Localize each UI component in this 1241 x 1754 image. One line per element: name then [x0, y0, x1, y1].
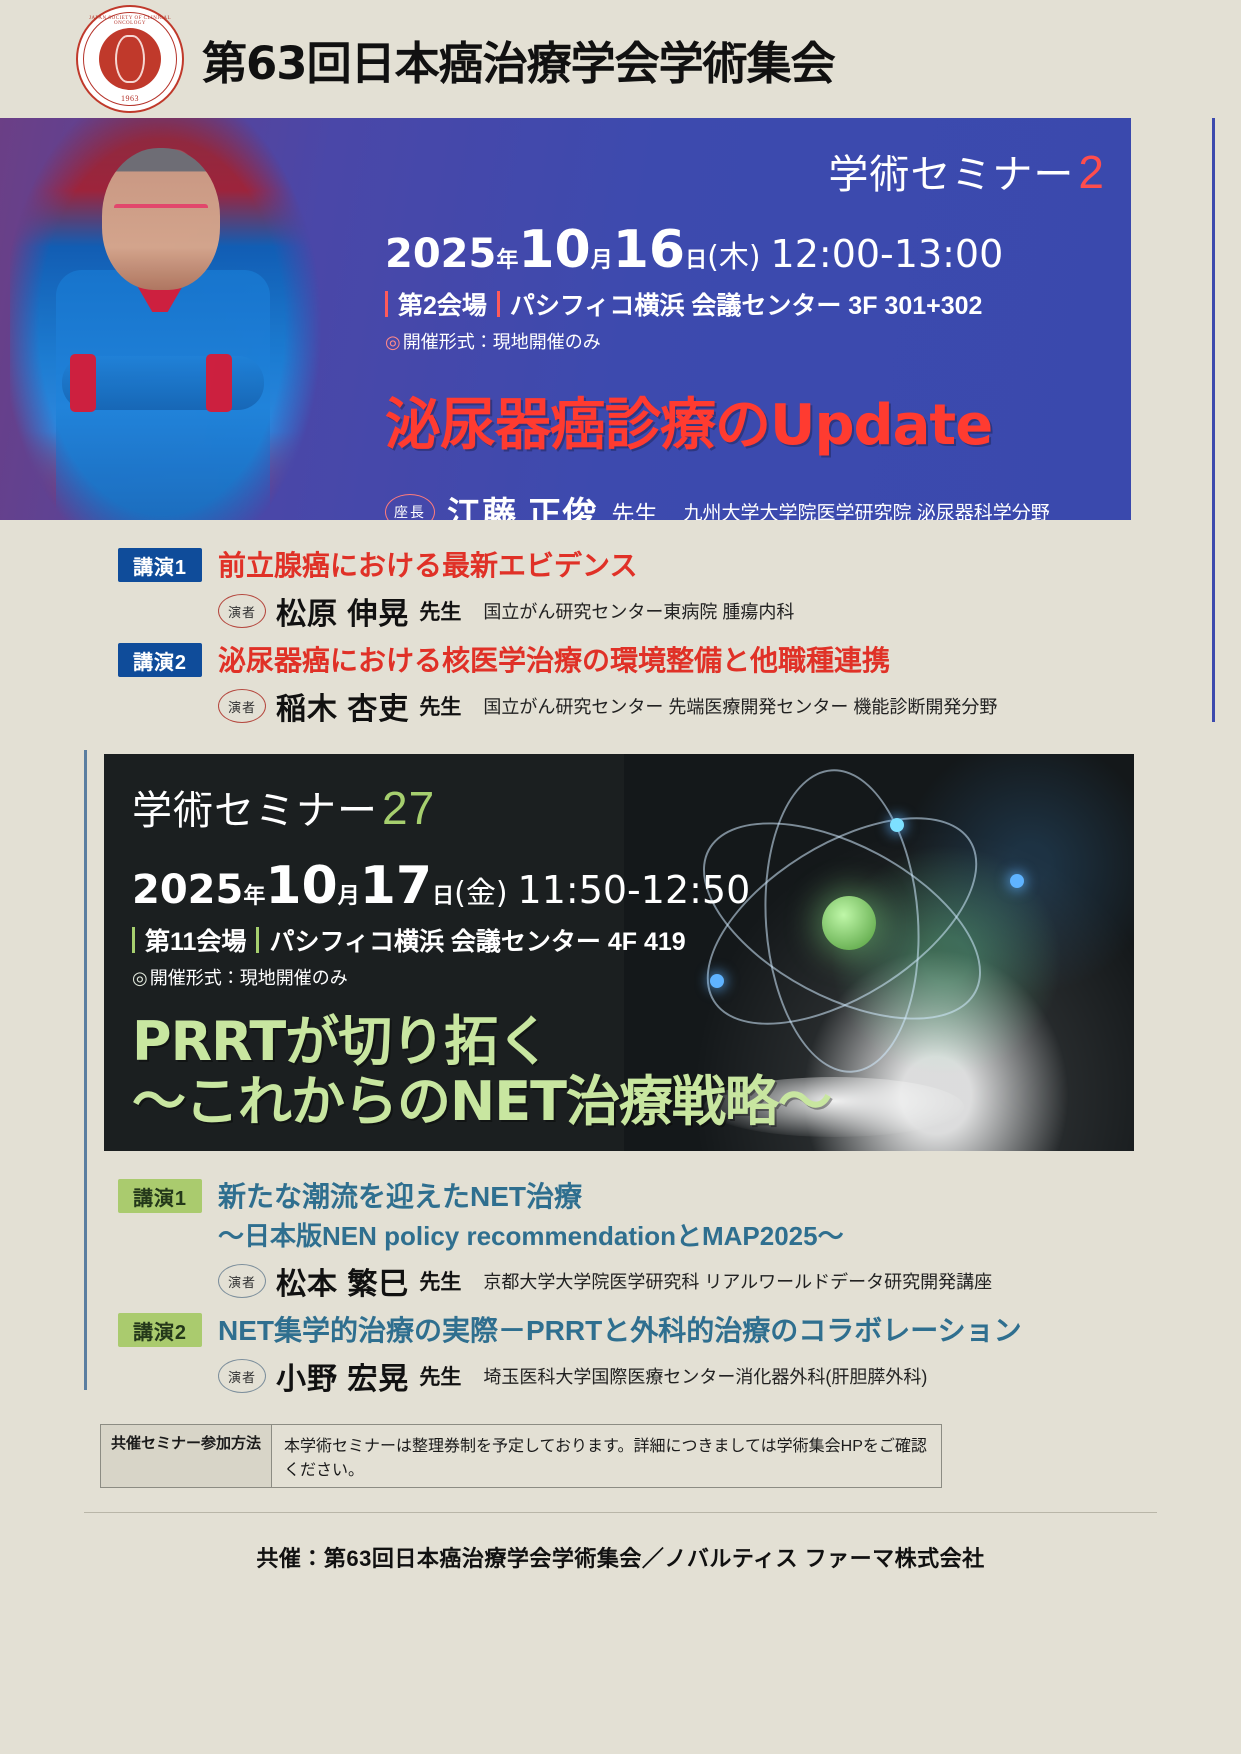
seminar27-place: パシフィコ横浜 会議センター 4F 419 [269, 922, 685, 958]
speaker-affiliation: 埼玉医科大学国際医療センター消化器外科(肝胆膵外科) [483, 1363, 927, 1389]
seminar27-hall: 第11会場 [145, 922, 246, 958]
seminar2-weekday: (木) [707, 240, 760, 275]
seminar2-label: 学術セミナー2 [385, 142, 1105, 200]
seminar2-day: 16 [613, 220, 685, 280]
speaker-row: 演者 小野 宏晃 先生 埼玉医科大学国際医療センター消化器外科(肝胆膵外科) [218, 1354, 1241, 1398]
participation-note-text: 本学術セミナーは整理券制を予定しております。詳細につきましては学術集会HPをご確… [272, 1425, 941, 1487]
speaker-row: 演者 松原 伸晃 先生 国立がん研究センター東病院 腫瘍内科 [218, 589, 1241, 633]
format-circle-icon: ◎ [385, 332, 401, 352]
seminar2-datetime: 2025年10月16日(木)12:00-13:00 [385, 220, 1105, 280]
participation-note: 共催セミナー参加方法 本学術セミナーは整理券制を予定しております。詳細につきまし… [100, 1424, 942, 1488]
seminar27-label-text: 学術セミナー [132, 789, 378, 833]
speaker-affiliation: 国立がん研究センター東病院 腫瘍内科 [483, 598, 794, 624]
seminar2-chair-affiliation: 九州大学大学院医学研究院 泌尿器科学分野 [683, 498, 1049, 520]
seminar27-month: 10 [265, 856, 337, 916]
seminar2-lectures: 講演1 前立腺癌における最新エビデンス 演者 松原 伸晃 先生 国立がん研究セン… [0, 520, 1241, 728]
right-vertical-rule [1212, 118, 1215, 722]
seminar2-format-text: 開催形式：現地開催のみ [403, 332, 601, 352]
chair-role-badge: 座長 [385, 494, 435, 521]
seminar2-hall: 第2会場 [398, 286, 487, 322]
speaker-name: 稲木 杏吏 [276, 684, 409, 728]
speaker-role-badge: 演者 [218, 1359, 266, 1393]
seminar27-month-unit: 月 [338, 884, 360, 909]
seminar27-banner: 学術セミナー27 2025年10月17日(金)11:50-12:50 第11会場… [104, 754, 1134, 1151]
seminar2-year-unit: 年 [496, 248, 518, 273]
format-circle-icon: ◎ [132, 968, 148, 988]
logo-text-bottom: 1963 [121, 94, 139, 103]
lecture-title: 新たな潮流を迎えたNET治療 [218, 1181, 582, 1212]
page-header: JAPAN SOCIETY OF CLINICAL ONCOLOGY 1963 … [0, 0, 1241, 118]
seminar27-year-unit: 年 [243, 884, 265, 909]
speaker-affiliation: 京都大学大学院医学研究科 リアルワールドデータ研究開発講座 [483, 1268, 992, 1294]
seminar27-lectures: 講演1 新たな潮流を迎えたNET治療 〜日本版NEN policy recomm… [0, 1151, 1241, 1398]
speaker-name: 松本 繁巳 [276, 1259, 409, 1303]
lecture-badge: 講演2 [118, 1313, 202, 1347]
seminar2-format: ◎開催形式：現地開催のみ [385, 328, 1105, 354]
lecture-title: 前立腺癌における最新エビデンス [218, 548, 637, 583]
lecture-title: NET集学的治療の実際－PRRTと外科的治療のコラボレーション [218, 1313, 1022, 1348]
speaker-honorific: 先生 [419, 691, 461, 721]
seminar2-month: 10 [518, 220, 590, 280]
seminar27-day-unit: 日 [432, 884, 454, 909]
speaker-name: 小野 宏晃 [276, 1354, 409, 1398]
seminar2-place: パシフィコ横浜 会議センター 3F 301+302 [510, 286, 983, 322]
seminar2-month-unit: 月 [591, 248, 613, 273]
seminar2-chair-name: 江藤 正俊 [447, 487, 597, 520]
seminar27-venue: 第11会場 パシフィコ横浜 会議センター 4F 419 [132, 922, 832, 958]
venue-divider-icon [132, 927, 135, 953]
lecture-row: 講演1 前立腺癌における最新エビデンス [118, 548, 1241, 583]
seminar2-day-unit: 日 [685, 248, 707, 273]
speaker-row: 演者 松本 繁巳 先生 京都大学大学院医学研究科 リアルワールドデータ研究開発講… [218, 1259, 1241, 1303]
speaker-honorific: 先生 [419, 1361, 461, 1391]
lecture-row: 講演1 新たな潮流を迎えたNET治療 〜日本版NEN policy recomm… [118, 1179, 1241, 1253]
speaker-role-badge: 演者 [218, 594, 266, 628]
conference-title: 第63回日本癌治療学会学術集会 [202, 27, 835, 92]
seminar27-year: 2025 [132, 867, 243, 913]
lecture-subtitle: 〜日本版NEN policy recommendationとMAP2025〜 [218, 1216, 844, 1253]
seminar2-venue: 第2会場 パシフィコ横浜 会議センター 3F 301+302 [385, 286, 1105, 322]
seminar2-banner: 学術セミナー2 2025年10月16日(木)12:00-13:00 第2会場 パ… [0, 118, 1131, 520]
footer-divider [84, 1512, 1157, 1513]
lecture-badge: 講演1 [118, 1179, 202, 1213]
seminar27-label: 学術セミナー27 [132, 778, 832, 836]
seminar2-year: 2025 [385, 231, 496, 277]
venue-divider-icon-2 [497, 291, 500, 317]
speaker-name: 松原 伸晃 [276, 589, 409, 633]
venue-divider-icon [385, 291, 388, 317]
seminar27-weekday: (金) [454, 876, 507, 911]
venue-divider-icon-2 [256, 927, 259, 953]
seminar27-day: 17 [360, 856, 432, 916]
chair-portrait-photo [10, 118, 340, 520]
speaker-role-badge: 演者 [218, 1264, 266, 1298]
lecture-row: 講演2 NET集学的治療の実際－PRRTと外科的治療のコラボレーション [118, 1313, 1241, 1348]
speaker-row: 演者 稲木 杏吏 先生 国立がん研究センター 先端医療開発センター 機能診断開発… [218, 684, 1241, 728]
participation-note-tag: 共催セミナー参加方法 [101, 1425, 272, 1487]
seminar2-time: 12:00-13:00 [771, 232, 1004, 276]
seminar27-title-line2: 〜これからのNET治療戦略〜 [132, 1072, 832, 1132]
seminar27-title-line1: PRRTが切り拓く [132, 1010, 550, 1073]
seminar27-format: ◎開催形式：現地開催のみ [132, 964, 832, 990]
left-vertical-rule [84, 750, 87, 1390]
lecture-title: 泌尿器癌における核医学治療の環境整備と他職種連携 [218, 643, 890, 678]
seminar2-chair-row: 座長 江藤 正俊 先生 九州大学大学院医学研究院 泌尿器科学分野 [385, 487, 1105, 520]
lecture-badge: 講演2 [118, 643, 202, 677]
seminar27-datetime: 2025年10月17日(金)11:50-12:50 [132, 856, 832, 916]
seminar2-chair-honorific: 先生 [611, 495, 657, 521]
speaker-honorific: 先生 [419, 1266, 461, 1296]
seminar2-title: 泌尿器癌診療のUpdate [385, 380, 1105, 461]
lecture-badge: 講演1 [118, 548, 202, 582]
seminar27-time: 11:50-12:50 [518, 868, 751, 912]
cohost-line: 共催：第63回日本癌治療学会学術集会／ノバルティス ファーマ株式会社 [0, 1541, 1241, 1573]
speaker-affiliation: 国立がん研究センター 先端医療開発センター 機能診断開発分野 [483, 693, 997, 719]
lecture-row: 講演2 泌尿器癌における核医学治療の環境整備と他職種連携 [118, 643, 1241, 678]
speaker-honorific: 先生 [419, 596, 461, 626]
seminar2-label-text: 学術セミナー [828, 153, 1074, 197]
seminar27-number: 27 [382, 782, 435, 834]
logo-text-top: JAPAN SOCIETY OF CLINICAL ONCOLOGY [87, 16, 173, 26]
speaker-role-badge: 演者 [218, 689, 266, 723]
seminar2-number: 2 [1078, 146, 1105, 198]
jsco-logo-icon: JAPAN SOCIETY OF CLINICAL ONCOLOGY 1963 [76, 5, 184, 113]
seminar27-title: PRRTが切り拓く 〜これからのNET治療戦略〜 [132, 1012, 832, 1133]
seminar27-format-text: 開催形式：現地開催のみ [150, 968, 348, 988]
